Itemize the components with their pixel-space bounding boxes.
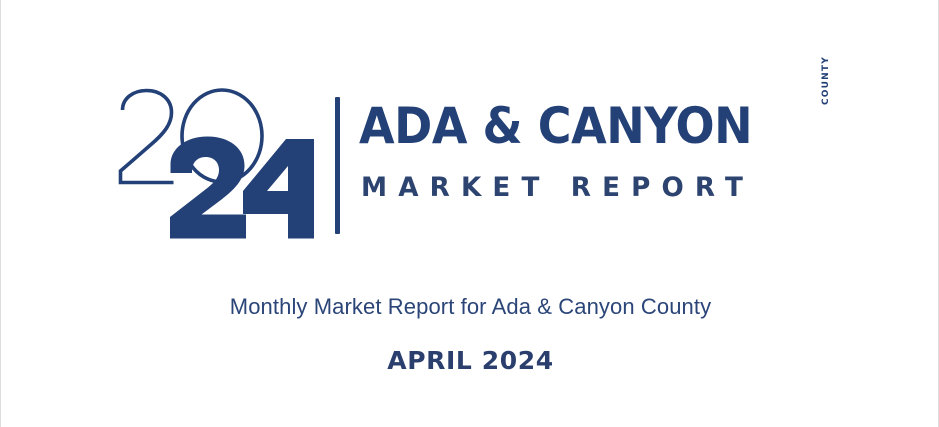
caption-block: Monthly Market Report for Ada & Canyon C… bbox=[1, 292, 939, 376]
logo-subtitle: MARKET REPORT bbox=[361, 172, 754, 204]
logo-title: ADA & CANYON bbox=[359, 98, 752, 154]
logo-year-mark bbox=[113, 86, 328, 241]
logo-title-row: ADA & CANYON COUNTY bbox=[359, 98, 833, 160]
report-cover-page: ADA & CANYON COUNTY MARKET REPORT Monthl… bbox=[0, 0, 939, 427]
brand-logo-lockup: ADA & CANYON COUNTY MARKET REPORT bbox=[113, 86, 833, 241]
logo-wordmark: ADA & CANYON COUNTY MARKET REPORT bbox=[359, 86, 833, 241]
logo-divider-rule bbox=[335, 97, 340, 234]
logo-county-tag: COUNTY bbox=[821, 56, 831, 105]
year-bold-24 bbox=[170, 137, 314, 239]
logo-year-svg bbox=[113, 86, 328, 241]
report-date: APRIL 2024 bbox=[1, 346, 939, 376]
report-description: Monthly Market Report for Ada & Canyon C… bbox=[1, 292, 939, 322]
